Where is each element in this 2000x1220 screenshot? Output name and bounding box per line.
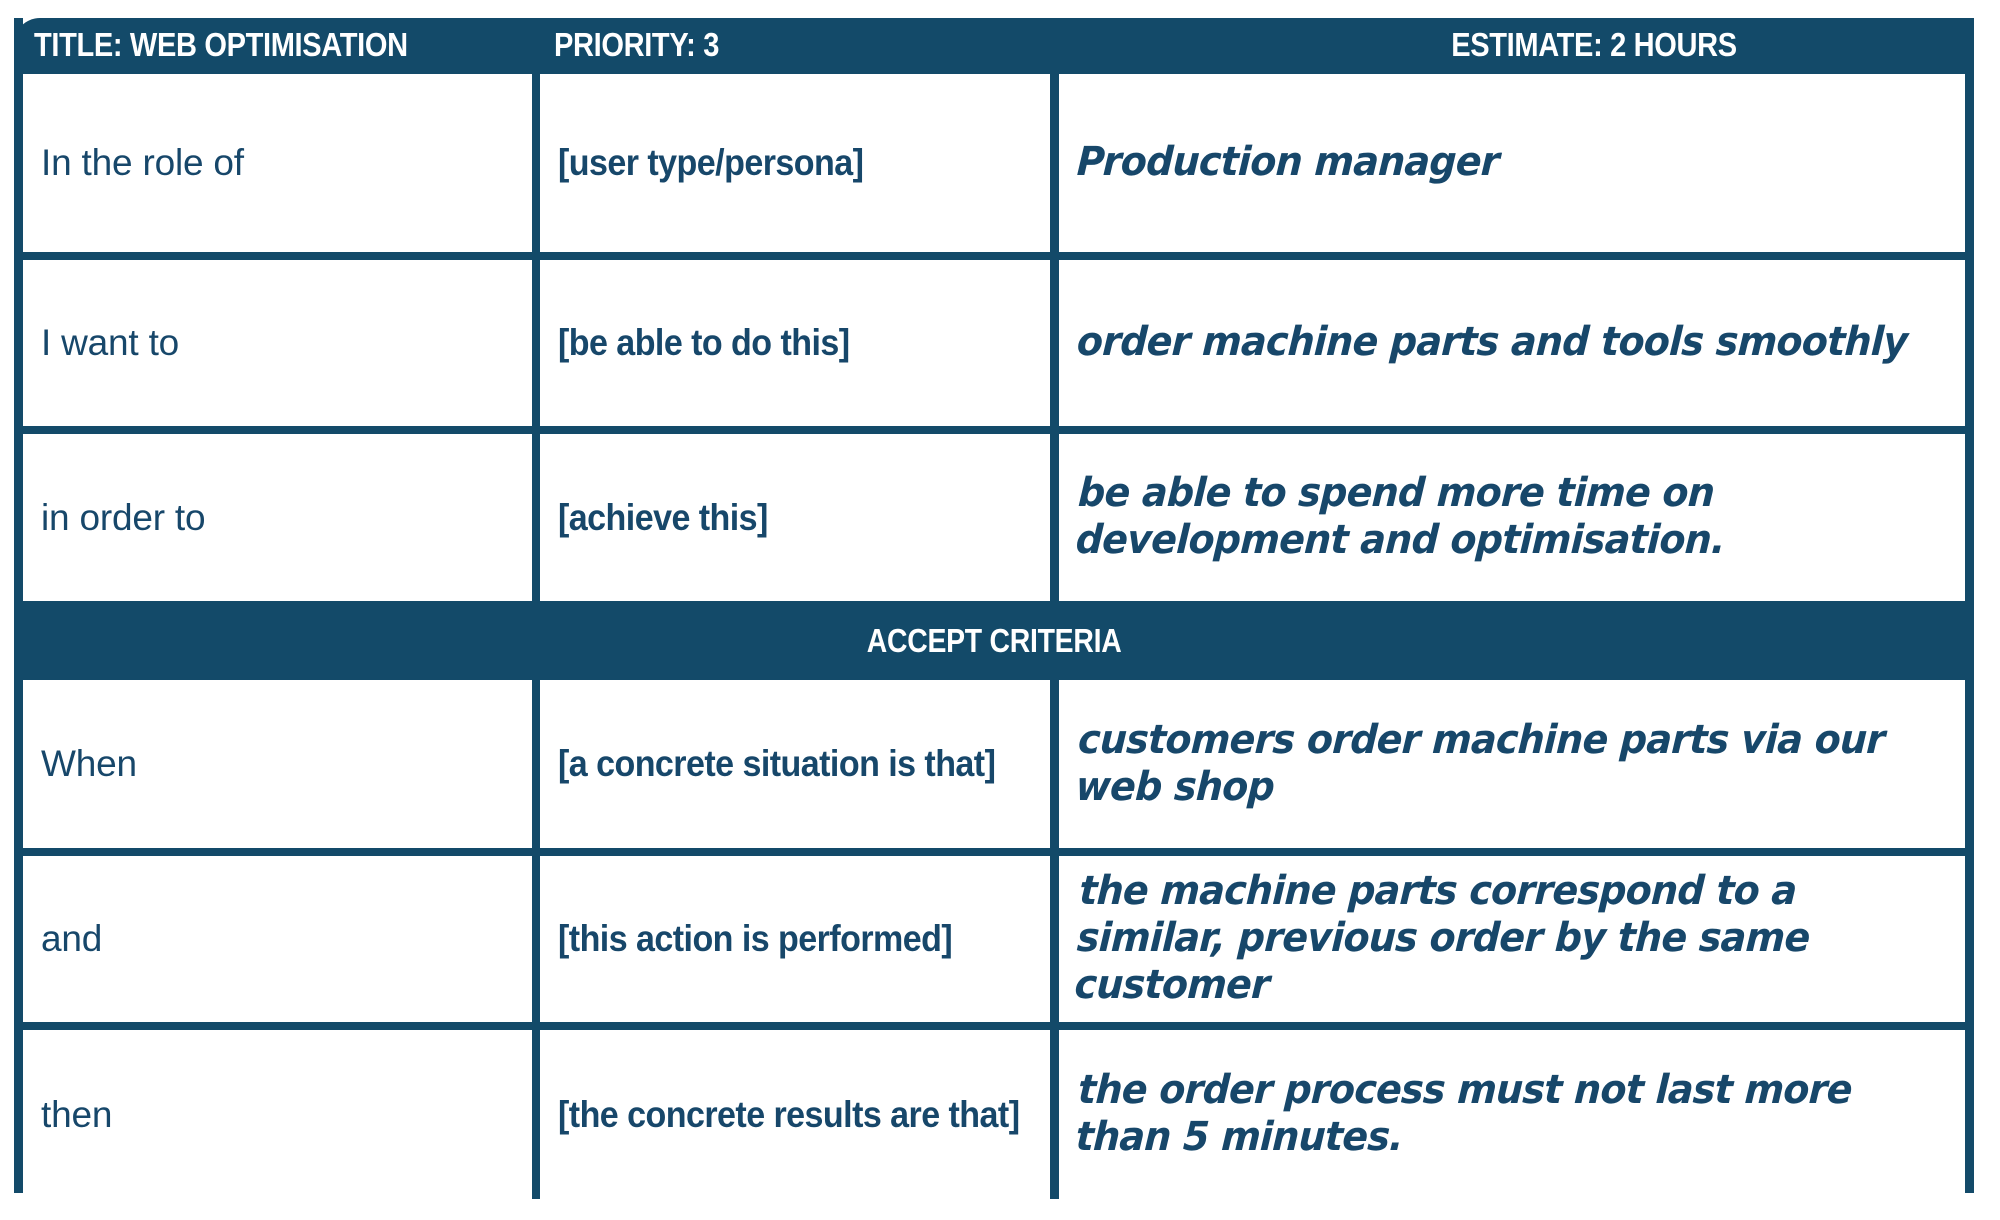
row-label-text: I want to — [41, 322, 179, 364]
row-value-cell[interactable]: order machine parts and tools smoothly — [1059, 260, 1965, 426]
row-value-cell[interactable]: the order process must not last more tha… — [1059, 1030, 1965, 1199]
row-label-cell: and — [23, 856, 540, 1022]
row-label-cell: I want to — [23, 260, 540, 426]
row-template-text: [user type/persona] — [558, 142, 863, 184]
row-template-cell: [achieve this] — [540, 434, 1059, 601]
card-body: In the role of [user type/persona] Produ… — [14, 74, 1974, 1193]
row-label-cell: in order to — [23, 434, 540, 601]
accept-criteria-label: ACCEPT CRITERIA — [867, 622, 1122, 660]
row-template-cell: [the concrete results are that] — [540, 1030, 1059, 1199]
row-template-cell: [a concrete situation is that] — [540, 680, 1059, 848]
table-row-then: then [the concrete results are that] the… — [23, 1030, 1965, 1199]
header-title: TITLE: WEB OPTIMISATION — [34, 18, 408, 74]
row-label-text: and — [41, 918, 102, 960]
row-template-text: [this action is performed] — [558, 918, 952, 960]
row-value-text: Production manager — [1076, 139, 1500, 186]
row-template-cell: [user type/persona] — [540, 74, 1059, 252]
table-row-when: When [a concrete situation is that] cust… — [23, 680, 1965, 856]
row-label-text: in order to — [41, 497, 205, 539]
row-value-text: be able to spend more time on developmen… — [1075, 470, 1914, 564]
card-header: TITLE: WEB OPTIMISATION PRIORITY: 3 ESTI… — [14, 18, 1974, 74]
table-row-role: In the role of [user type/persona] Produ… — [23, 74, 1965, 260]
accept-criteria-band: ACCEPT CRITERIA — [23, 609, 1965, 680]
row-template-text: [a concrete situation is that] — [558, 743, 995, 785]
row-value-text: customers order machine parts via our we… — [1075, 717, 1914, 811]
table-row-want: I want to [be able to do this] order mac… — [23, 260, 1965, 434]
row-label-text: In the role of — [41, 142, 244, 184]
row-value-text: the machine parts correspond to a simila… — [1073, 868, 1914, 1010]
header-priority: PRIORITY: 3 — [554, 18, 719, 74]
row-value-cell[interactable]: the machine parts correspond to a simila… — [1059, 856, 1965, 1022]
row-label-text: When — [41, 743, 137, 785]
table-row-in-order-to: in order to [achieve this] be able to sp… — [23, 434, 1965, 609]
row-template-text: [achieve this] — [558, 497, 768, 539]
row-value-cell[interactable]: Production manager — [1059, 74, 1965, 252]
row-value-text: order machine parts and tools smoothly — [1076, 319, 1909, 366]
row-template-text: [be able to do this] — [558, 322, 850, 364]
row-template-cell: [be able to do this] — [540, 260, 1059, 426]
row-label-cell: When — [23, 680, 540, 848]
row-value-text: the order process must not last more tha… — [1075, 1067, 1914, 1161]
row-label-cell: then — [23, 1030, 540, 1199]
row-value-cell[interactable]: customers order machine parts via our we… — [1059, 680, 1965, 848]
row-value-cell[interactable]: be able to spend more time on developmen… — [1059, 434, 1965, 601]
row-label-cell: In the role of — [23, 74, 540, 252]
header-estimate: ESTIMATE: 2 HOURS — [1141, 18, 2000, 74]
row-label-text: then — [41, 1094, 112, 1136]
table-row-and: and [this action is performed] the machi… — [23, 856, 1965, 1030]
row-template-text: [the concrete results are that] — [558, 1094, 1019, 1136]
row-template-cell: [this action is performed] — [540, 856, 1059, 1022]
